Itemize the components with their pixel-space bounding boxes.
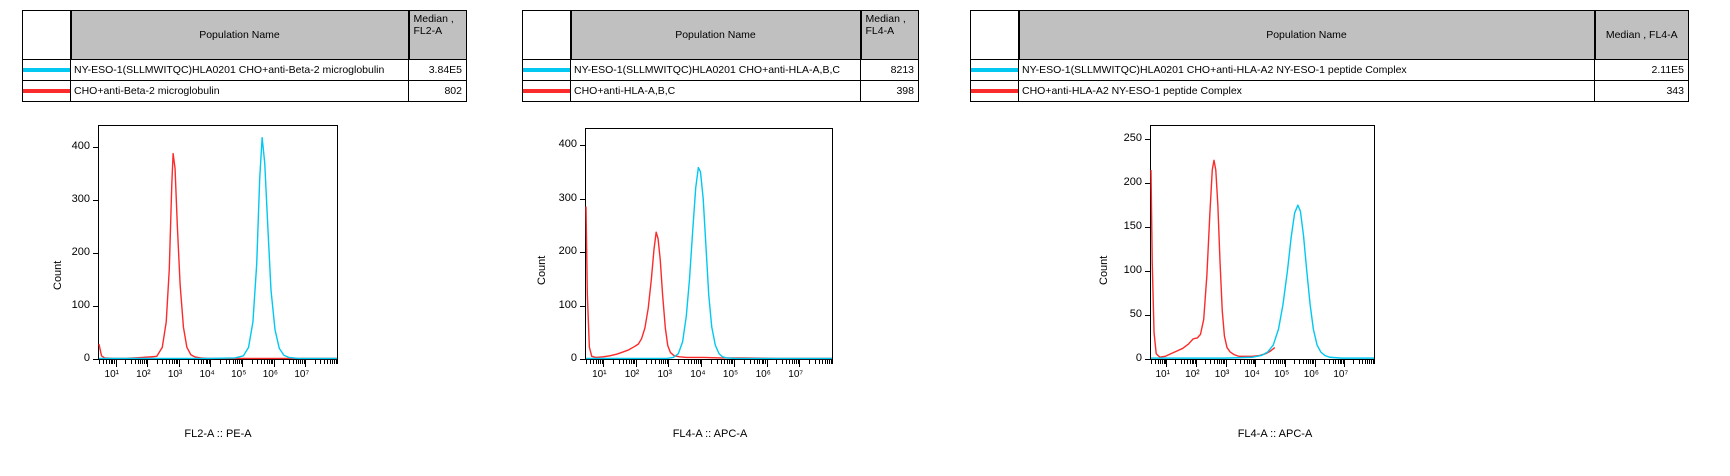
x-axis-minor-tick [103, 360, 104, 364]
x-axis-minor-tick [1273, 360, 1274, 364]
histogram-trace [1151, 205, 1374, 358]
x-axis-minor-tick [1160, 360, 1161, 364]
x-axis-major-tick [734, 360, 735, 367]
x-axis-minor-tick [776, 360, 777, 364]
x-axis-major-tick [1226, 360, 1227, 367]
x-axis-minor-tick [1367, 360, 1368, 364]
x-axis-major-tick [210, 360, 211, 367]
x-axis-tick-label: 10⁶ [1304, 369, 1319, 380]
x-axis-minor-tick [125, 360, 126, 364]
x-axis-tick-label: 10⁷ [294, 369, 309, 380]
x-axis-minor-tick [1333, 360, 1334, 364]
x-axis-minor-tick [1338, 360, 1339, 364]
y-axis-tick [93, 306, 98, 307]
x-axis-minor-tick [626, 360, 627, 364]
x-axis-minor-tick [1247, 360, 1248, 364]
x-axis-major-tick [274, 360, 275, 367]
x-axis-minor-tick [815, 360, 816, 364]
x-axis-tick-label: 10⁵ [1274, 369, 1289, 380]
y-axis-tick [93, 253, 98, 254]
x-axis-minor-tick [1329, 360, 1330, 364]
y-axis-tick-label: 200 [543, 245, 577, 257]
y-axis-tick [1145, 227, 1150, 228]
x-axis-minor-tick [825, 360, 826, 364]
x-axis-minor-tick [166, 360, 167, 364]
x-axis-minor-tick [744, 360, 745, 364]
y-axis-tick-label: 0 [1108, 352, 1142, 364]
x-axis-minor-tick [229, 360, 230, 364]
histogram-trace [99, 154, 337, 359]
x-axis-major-tick [603, 360, 604, 367]
x-axis-minor-tick [792, 360, 793, 364]
y-axis-tick-label: 400 [56, 140, 90, 152]
x-axis-minor-tick [99, 360, 100, 364]
x-axis-minor-tick [1235, 360, 1236, 364]
x-axis-minor-tick [172, 360, 173, 364]
y-axis-label: Count [52, 261, 64, 290]
x-axis-minor-tick [593, 360, 594, 364]
x-axis-minor-tick [590, 360, 591, 364]
x-axis-minor-tick [320, 360, 321, 364]
x-axis-minor-tick [138, 360, 139, 364]
x-axis-minor-tick [694, 360, 695, 364]
x-axis-tick-label: 10⁶ [263, 369, 278, 380]
x-axis-tick-label: 10⁴ [1244, 369, 1259, 380]
x-axis-tick-label: 10⁷ [788, 369, 803, 380]
x-axis-major-tick [242, 360, 243, 367]
x-axis-minor-tick [832, 360, 833, 364]
y-axis-tick-label: 50 [1108, 308, 1142, 320]
x-axis-minor-tick [194, 360, 195, 364]
y-axis-tick-label: 200 [56, 246, 90, 258]
x-axis-minor-tick [822, 360, 823, 364]
x-axis-minor-tick [586, 360, 587, 364]
x-axis-minor-tick [684, 360, 685, 364]
y-axis-tick-label: 300 [56, 193, 90, 205]
x-axis-minor-tick [257, 360, 258, 364]
x-axis-minor-tick [1374, 360, 1375, 364]
x-axis-major-tick [1315, 360, 1316, 367]
x-axis-minor-tick [324, 360, 325, 364]
x-axis-minor-tick [727, 360, 728, 364]
panel-3: Population Name Median , FL4-A NY-ESO-1(… [970, 0, 1730, 476]
y-axis-tick-label: 0 [543, 352, 577, 364]
x-axis-minor-tick [659, 360, 660, 364]
x-axis-minor-tick [289, 360, 290, 364]
x-axis-minor-tick [794, 360, 795, 364]
x-axis-minor-tick [809, 360, 810, 364]
x-axis-minor-tick [203, 360, 204, 364]
histogram-trace [586, 168, 832, 359]
y-axis-tick [93, 147, 98, 148]
x-axis-minor-tick [298, 360, 299, 364]
x-axis-minor-tick [1303, 360, 1304, 364]
x-axis-minor-tick [646, 360, 647, 364]
x-axis-tick-label: 10¹ [592, 369, 606, 380]
x-axis-tick-label: 10¹ [105, 369, 119, 380]
x-axis-minor-tick [1151, 360, 1152, 364]
histogram-chart-1: Count FL2-A :: PE-A 010020030040010¹10²1… [0, 0, 500, 476]
x-axis-minor-tick [663, 360, 664, 364]
x-axis-title: FL4-A :: APC-A [1150, 428, 1400, 440]
x-axis-minor-tick [1181, 360, 1182, 364]
x-axis-minor-tick [293, 360, 294, 364]
x-axis-minor-tick [721, 360, 722, 364]
x-axis-major-tick [1285, 360, 1286, 367]
y-axis-tick-label: 300 [543, 192, 577, 204]
y-axis-tick [580, 199, 585, 200]
histogram-chart-2: Count FL4-A :: APC-A 010020030040010¹10²… [500, 0, 970, 476]
x-axis-minor-tick [140, 360, 141, 364]
histogram-traces-1 [99, 126, 337, 359]
plot-area-2 [585, 128, 833, 360]
x-axis-minor-tick [109, 360, 110, 364]
x-axis-major-tick [1166, 360, 1167, 367]
x-axis-major-tick [1196, 360, 1197, 367]
histogram-chart-3: Count FL4-A :: APC-A 05010015020025010¹1… [970, 0, 1730, 476]
y-axis-tick [1145, 139, 1150, 140]
x-axis-minor-tick [754, 360, 755, 364]
x-axis-tick-label: 10⁴ [199, 369, 214, 380]
x-axis-minor-tick [1359, 360, 1360, 364]
x-axis-minor-tick [782, 360, 783, 364]
x-axis-minor-tick [157, 360, 158, 364]
histogram-trace [99, 138, 337, 359]
x-axis-minor-tick [201, 360, 202, 364]
x-axis-major-tick [767, 360, 768, 367]
x-axis-minor-tick [330, 360, 331, 364]
x-axis-minor-tick [1187, 360, 1188, 364]
x-axis-tick-label: 10⁵ [231, 369, 246, 380]
y-axis-tick [1145, 315, 1150, 316]
x-axis-minor-tick [142, 360, 143, 364]
x-axis-minor-tick [1306, 360, 1307, 364]
x-axis-minor-tick [688, 360, 689, 364]
flow-cytometry-figure: { "figure": { "title": "Flow cytometry h… [0, 0, 1730, 476]
x-axis-minor-tick [655, 360, 656, 364]
x-axis-major-tick [668, 360, 669, 367]
x-axis-minor-tick [762, 360, 763, 364]
x-axis-minor-tick [1214, 360, 1215, 364]
x-axis-minor-tick [1335, 360, 1336, 364]
x-axis-minor-tick [1264, 360, 1265, 364]
x-axis-minor-tick [750, 360, 751, 364]
y-axis-tick [580, 252, 585, 253]
x-axis-tick-label: 10⁶ [756, 369, 771, 380]
x-axis-minor-tick [131, 360, 132, 364]
x-axis-minor-tick [198, 360, 199, 364]
x-axis-minor-tick [1362, 360, 1363, 364]
x-axis-tick-label: 10⁷ [1333, 369, 1348, 380]
x-axis-major-tick [305, 360, 306, 367]
x-axis-tick-label: 10² [136, 369, 150, 380]
x-axis-minor-tick [296, 360, 297, 364]
x-axis-major-tick [636, 360, 637, 367]
x-axis-title: FL2-A :: PE-A [98, 428, 338, 440]
plot-area-1 [98, 125, 338, 360]
y-axis-tick-label: 100 [543, 299, 577, 311]
x-axis-minor-tick [267, 360, 268, 364]
x-axis-minor-tick [1324, 360, 1325, 364]
x-axis-minor-tick [619, 360, 620, 364]
y-axis-tick [580, 145, 585, 146]
x-axis-minor-tick [1219, 360, 1220, 364]
x-axis-minor-tick [661, 360, 662, 364]
y-axis-tick [93, 200, 98, 201]
x-axis-minor-tick [691, 360, 692, 364]
x-axis-tick-label: 10³ [168, 369, 182, 380]
x-axis-minor-tick [1308, 360, 1309, 364]
y-axis-tick-label: 100 [56, 299, 90, 311]
x-axis-minor-tick [252, 360, 253, 364]
x-axis-tick-label: 10⁵ [723, 369, 738, 380]
x-axis-minor-tick [613, 360, 614, 364]
plot-area-3 [1150, 125, 1375, 360]
x-axis-minor-tick [135, 360, 136, 364]
x-axis-minor-tick [696, 360, 697, 364]
x-axis-tick-label: 10¹ [1155, 369, 1169, 380]
x-axis-minor-tick [1276, 360, 1277, 364]
x-axis-minor-tick [827, 360, 828, 364]
x-axis-minor-tick [1244, 360, 1245, 364]
x-axis-tick-label: 10³ [1215, 369, 1229, 380]
x-axis-minor-tick [1184, 360, 1185, 364]
x-axis-minor-tick [729, 360, 730, 364]
histogram-traces-3 [1151, 126, 1374, 359]
histogram-trace [586, 207, 832, 359]
x-axis-minor-tick [1270, 360, 1271, 364]
y-axis-tick-label: 150 [1108, 220, 1142, 232]
x-axis-minor-tick [759, 360, 760, 364]
y-axis-tick [580, 306, 585, 307]
x-axis-minor-tick [819, 360, 820, 364]
x-axis-minor-tick [327, 360, 328, 364]
x-axis-minor-tick [786, 360, 787, 364]
x-axis-major-tick [147, 360, 148, 367]
x-axis-minor-tick [598, 360, 599, 364]
x-axis-minor-tick [678, 360, 679, 364]
x-axis-minor-tick [162, 360, 163, 364]
x-axis-tick-label: 10³ [657, 369, 671, 380]
x-axis-minor-tick [629, 360, 630, 364]
x-axis-minor-tick [1278, 360, 1279, 364]
panel-2: Population Name Median , FL4-A NY-ESO-1(… [500, 0, 970, 476]
x-axis-minor-tick [1155, 360, 1156, 364]
x-axis-major-tick [179, 360, 180, 367]
x-axis-minor-tick [188, 360, 189, 364]
x-axis-minor-tick [283, 360, 284, 364]
x-axis-minor-tick [1299, 360, 1300, 364]
x-axis-minor-tick [1210, 360, 1211, 364]
x-axis-minor-tick [1294, 360, 1295, 364]
x-axis-minor-tick [623, 360, 624, 364]
x-axis-minor-tick [300, 360, 301, 364]
x-axis-minor-tick [337, 360, 338, 364]
x-axis-minor-tick [220, 360, 221, 364]
x-axis-minor-tick [711, 360, 712, 364]
y-axis-tick-label: 200 [1108, 176, 1142, 188]
y-axis-tick [580, 359, 585, 360]
x-axis-minor-tick [1365, 360, 1366, 364]
x-axis-minor-tick [789, 360, 790, 364]
x-axis-tick-label: 10² [1185, 369, 1199, 380]
x-axis-minor-tick [315, 360, 316, 364]
x-axis-minor-tick [261, 360, 262, 364]
x-axis-minor-tick [169, 360, 170, 364]
y-axis-tick [1145, 359, 1150, 360]
y-axis-tick-label: 0 [56, 352, 90, 364]
panel-1: Population Name Median , FL2-A NY-ESO-1(… [0, 0, 500, 476]
x-axis-major-tick [701, 360, 702, 367]
x-axis-major-tick [116, 360, 117, 367]
y-axis-tick-label: 400 [543, 138, 577, 150]
x-axis-major-tick [799, 360, 800, 367]
x-axis-minor-tick [757, 360, 758, 364]
x-axis-major-tick [1255, 360, 1256, 367]
x-axis-minor-tick [106, 360, 107, 364]
x-axis-minor-tick [1205, 360, 1206, 364]
y-axis-label: Count [536, 256, 548, 285]
y-axis-tick [1145, 183, 1150, 184]
x-axis-minor-tick [724, 360, 725, 364]
x-axis-minor-tick [651, 360, 652, 364]
x-axis-minor-tick [269, 360, 270, 364]
x-axis-minor-tick [1158, 360, 1159, 364]
y-axis-tick-label: 100 [1108, 264, 1142, 276]
x-axis-minor-tick [1217, 360, 1218, 364]
x-axis-minor-tick [235, 360, 236, 364]
y-axis-tick-label: 250 [1108, 132, 1142, 144]
x-axis-minor-tick [1175, 360, 1176, 364]
histogram-trace [1151, 160, 1275, 357]
y-axis-tick [1145, 271, 1150, 272]
x-axis-tick-label: 10² [625, 369, 639, 380]
x-axis-tick-label: 10⁴ [690, 369, 705, 380]
x-axis-minor-tick [233, 360, 234, 364]
y-axis-tick [93, 359, 98, 360]
x-axis-minor-tick [226, 360, 227, 364]
histogram-traces-2 [586, 129, 832, 359]
x-axis-minor-tick [1249, 360, 1250, 364]
x-axis-minor-tick [596, 360, 597, 364]
x-axis-minor-tick [264, 360, 265, 364]
x-axis-minor-tick [1240, 360, 1241, 364]
x-axis-title: FL4-A :: APC-A [585, 428, 835, 440]
x-axis-major-tick [1344, 360, 1345, 367]
x-axis-minor-tick [1353, 360, 1354, 364]
x-axis-minor-tick [631, 360, 632, 364]
x-axis-minor-tick [1190, 360, 1191, 364]
x-axis-minor-tick [717, 360, 718, 364]
